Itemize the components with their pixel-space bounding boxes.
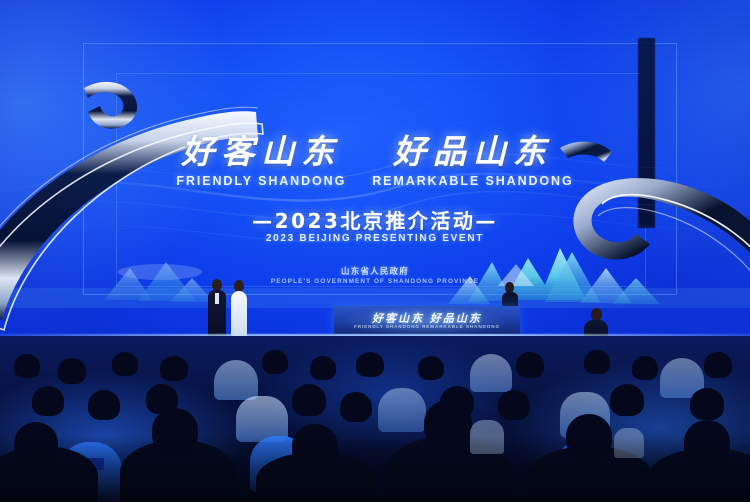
audience-head [690, 388, 724, 420]
audience-head [292, 384, 326, 416]
chair-cover [378, 388, 426, 432]
female-host-dress [231, 291, 247, 338]
audience-head [112, 352, 138, 376]
audience-head [418, 356, 444, 380]
organizer-en: PEOPLE'S GOVERNMENT OF SHANDONG PROVINCE [0, 278, 750, 285]
headline-en-remarkable: REMARKABLE SHANDONG [372, 174, 573, 188]
audience-head [356, 352, 384, 377]
audience-head [610, 384, 644, 416]
event-title-en: 2023 BEIJING PRESENTING EVENT [0, 233, 750, 244]
audience-head [310, 356, 336, 380]
headline-group-remarkable: 好品山东 REMARKABLE SHANDONG [372, 133, 573, 188]
lectern-banner: 好客山东 好品山东 FRIENDLY SHANDONG REMARKABLE S… [334, 306, 520, 334]
male-host-shirt [215, 293, 219, 304]
audience-head [704, 352, 732, 378]
audience-head [584, 350, 610, 374]
female-host [228, 280, 250, 338]
audience-head [498, 390, 530, 420]
audience-head [88, 390, 120, 420]
audience-head [516, 352, 544, 378]
headline-cn-remarkable: 好品山东 [372, 133, 573, 171]
event-title-cn: —2023北京推介活动— [0, 205, 750, 234]
audience-head [32, 386, 64, 416]
audience-head [262, 350, 288, 374]
organizer-cn: 山东省人民政府 [0, 265, 750, 277]
chair-cover [214, 360, 258, 400]
headline-cn-friendly: 好客山东 [176, 133, 346, 171]
headline-group-friendly: 好客山东 FRIENDLY SHANDONG [176, 133, 346, 188]
audience-area [0, 336, 750, 502]
event-photo: 好客山东 FRIENDLY SHANDONG 好品山东 REMARKABLE S… [0, 0, 750, 502]
audience-head [340, 392, 372, 422]
audience-head [14, 354, 40, 378]
led-headline-row: 好客山东 FRIENDLY SHANDONG 好品山东 REMARKABLE S… [0, 133, 750, 188]
audience-head [632, 356, 658, 380]
male-host [206, 279, 228, 337]
headline-en-friendly: FRIENDLY SHANDONG [176, 174, 346, 188]
chair-cover [470, 354, 512, 392]
audience-head [160, 356, 188, 381]
audience-head [58, 358, 86, 384]
lectern-banner-en: FRIENDLY SHANDONG REMARKABLE SHANDONG [334, 324, 520, 329]
audience-bottom-shade [0, 436, 750, 502]
